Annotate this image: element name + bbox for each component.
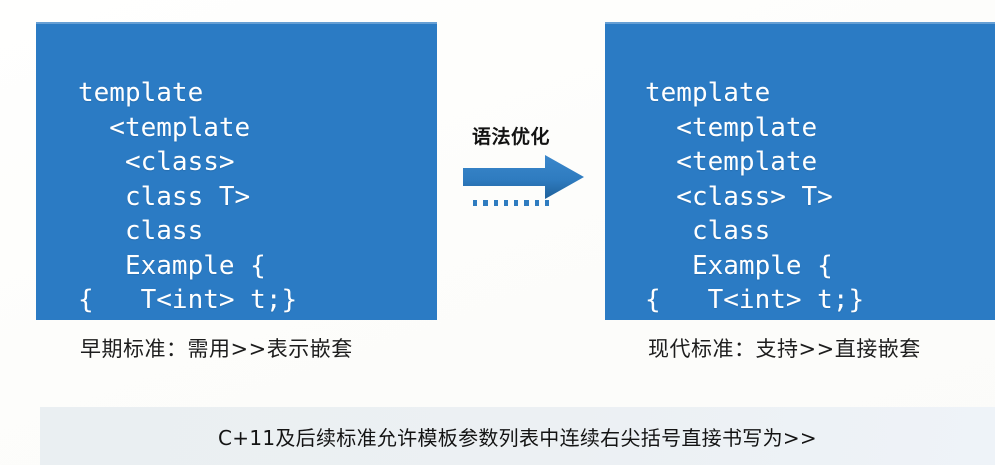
right-arrow-icon — [463, 153, 585, 201]
dot — [514, 200, 518, 206]
dotted-underline — [473, 200, 549, 206]
dot — [535, 200, 539, 206]
dot — [545, 200, 549, 206]
dot — [483, 200, 487, 206]
transition-arrow-group: 语法优化 — [455, 120, 595, 220]
dot — [494, 200, 498, 206]
arrow-label: 语法优化 — [472, 122, 550, 149]
dot — [524, 200, 528, 206]
early-standard-code-panel: template <template <class> class T> clas… — [36, 22, 437, 320]
modern-standard-code-text: template <template <template <class> T> … — [645, 76, 864, 318]
dot — [504, 200, 508, 206]
summary-banner: C+11及后续标准允许模板参数列表中连续右尖括号直接书写为>> — [40, 407, 995, 465]
slide-canvas: template <template <class> class T> clas… — [0, 0, 995, 465]
early-standard-code-text: template <template <class> class T> clas… — [78, 76, 297, 318]
dot — [473, 200, 477, 206]
early-standard-caption: 早期标准：需用>>表示嵌套 — [80, 333, 353, 363]
modern-standard-code-panel: template <template <template <class> T> … — [605, 22, 995, 320]
summary-banner-text: C+11及后续标准允许模板参数列表中连续右尖括号直接书写为>> — [218, 422, 817, 451]
modern-standard-caption: 现代标准：支持>>直接嵌套 — [648, 333, 921, 363]
